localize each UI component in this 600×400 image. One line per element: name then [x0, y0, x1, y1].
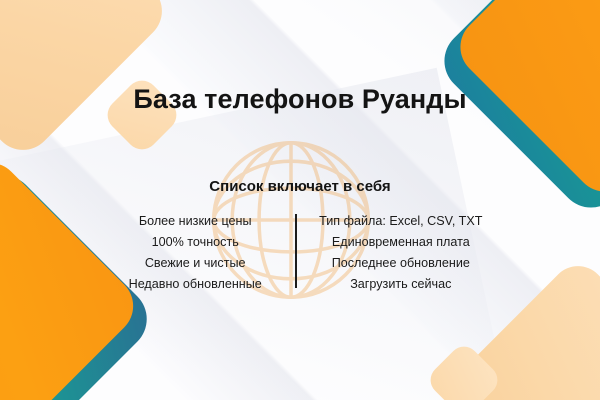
- banner-content: База телефонов Руанды Список включает в …: [0, 0, 600, 400]
- promo-banner: База телефонов Руанды Список включает в …: [0, 0, 600, 400]
- list-item: Более низкие цены: [139, 212, 252, 231]
- feature-column-right: Тип файла: Excel, CSV, TXT Единовременна…: [297, 212, 505, 294]
- list-item: 100% точность: [152, 233, 239, 252]
- list-item: Последнее обновление: [332, 254, 470, 273]
- feature-column-left: Более низкие цены 100% точность Свежие и…: [95, 212, 295, 294]
- list-item: Единовременная плата: [332, 233, 470, 252]
- list-item: Свежие и чистые: [145, 254, 246, 273]
- feature-columns: Более низкие цены 100% точность Свежие и…: [0, 212, 600, 294]
- list-item[interactable]: Загрузить сейчас: [350, 275, 451, 294]
- list-item: Тип файла: Excel, CSV, TXT: [319, 212, 482, 231]
- page-title: База телефонов Руанды: [0, 84, 600, 115]
- subtitle: Список включает в себя: [0, 178, 600, 195]
- list-item: Недавно обновленные: [129, 275, 262, 294]
